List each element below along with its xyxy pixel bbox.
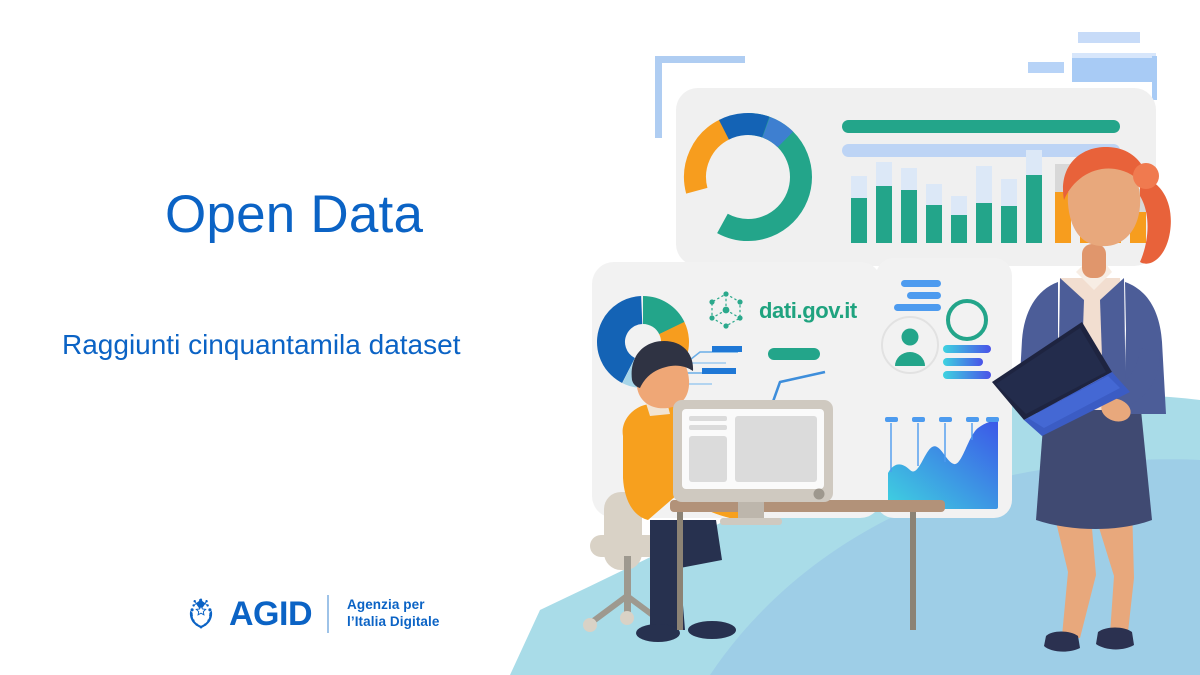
agid-logo: AGID Agenzia per l’Italia Digitale — [182, 595, 439, 633]
slide-canvas: Open Data Raggiunti cinquantamila datase… — [0, 0, 1200, 675]
page-subtitle: Raggiunti cinquantamila dataset — [62, 328, 460, 362]
logo-divider — [327, 595, 329, 633]
agid-tagline-line1: Agenzia per — [347, 597, 439, 614]
dati-gov-it-wordmark: dati.gov.it — [759, 298, 858, 323]
right-dashboard-card — [876, 258, 1012, 518]
page-title: Open Data — [165, 187, 423, 243]
italian-republic-emblem-icon — [182, 595, 220, 633]
agid-wordmark: AGID — [229, 597, 312, 631]
agid-tagline-line2: l’Italia Digitale — [347, 614, 439, 631]
open-data-dashboard-illustration: dati.gov.it — [480, 0, 1200, 675]
agid-tagline: Agenzia per l’Italia Digitale — [347, 597, 439, 631]
